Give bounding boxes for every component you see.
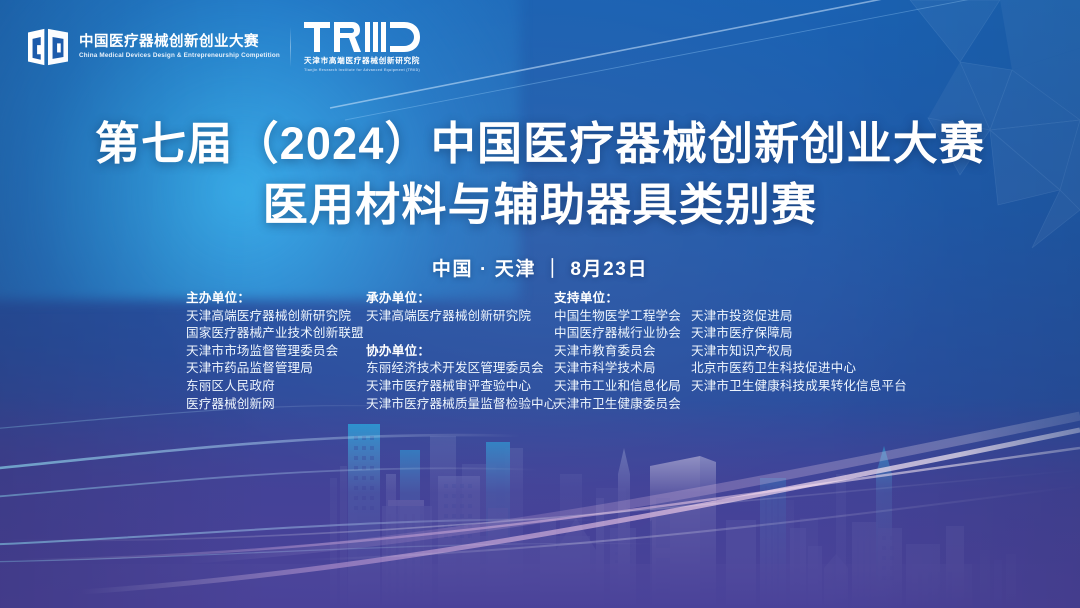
institute-logo-name-cn: 天津市高端医疗器械创新研究院: [304, 55, 420, 66]
organizer-columns: 主办单位： 天津高端医疗器械创新研究院 国家医疗器械产业技术创新联盟 天津市市场…: [186, 290, 901, 413]
event-poster: 中国医疗器械创新创业大赛 China Medical Devices Desig…: [0, 0, 1080, 608]
organizer-item: 天津高端医疗器械创新研究院: [186, 308, 366, 326]
organizer-item: 国家医疗器械产业技术创新联盟: [186, 325, 366, 343]
organizer-item: 医疗器械创新网: [186, 396, 366, 414]
organizer-item: 东丽经济技术开发区管理委员会: [366, 360, 554, 378]
title-block: 第七届（2024）中国医疗器械创新创业大赛 医用材料与辅助器具类别赛 中国 · …: [0, 116, 1080, 281]
organizer-item: 天津市医疗器械质量监督检验中心: [366, 396, 554, 414]
logo-divider: [290, 27, 291, 67]
organizer-column-undertaker: 承办单位： 天津高端医疗器械创新研究院 协办单位： 东丽经济技术开发区管理委员会…: [366, 290, 554, 413]
column-spacer: [691, 290, 901, 308]
triid-wordmark-icon: [304, 22, 420, 52]
organizer-item: 天津市教育委员会: [554, 343, 691, 361]
organizer-heading: 协办单位：: [366, 343, 554, 361]
organizer-item: 天津市药品监督管理局: [186, 360, 366, 378]
competition-logo-name-cn: 中国医疗器械创新创业大赛: [79, 34, 276, 50]
organizer-item: 天津市市场监督管理委员会: [186, 343, 366, 361]
organizer-item: 天津市卫生健康科技成果转化信息平台: [691, 378, 901, 396]
organizer-heading: 主办单位：: [186, 290, 366, 308]
organizer-item: 天津市卫生健康委员会: [554, 396, 691, 414]
logo-bar: 中国医疗器械创新创业大赛 China Medical Devices Desig…: [26, 22, 420, 72]
organizer-item: 天津市科学技术局: [554, 360, 691, 378]
organizer-item: 天津市知识产权局: [691, 343, 901, 361]
organizer-item: 天津高端医疗器械创新研究院: [366, 308, 554, 326]
column-spacer: [366, 325, 554, 343]
page-title-line1: 第七届（2024）中国医疗器械创新创业大赛: [0, 116, 1080, 172]
organizer-column-host: 主办单位： 天津高端医疗器械创新研究院 国家医疗器械产业技术创新联盟 天津市市场…: [186, 290, 366, 413]
competition-logo-name-en: China Medical Devices Design & Entrepren…: [79, 52, 280, 59]
organizer-heading: 承办单位：: [366, 290, 554, 308]
organizer-heading: 支持单位：: [554, 290, 691, 308]
competition-logo[interactable]: 中国医疗器械创新创业大赛 China Medical Devices Desig…: [26, 27, 276, 67]
location-date: 中国 · 天津 ｜ 8月23日: [0, 254, 1080, 281]
organizer-column-supporters-2: 天津市投资促进局 天津市医疗保障局 天津市知识产权局 北京市医药卫生科技促进中心…: [691, 290, 901, 396]
open-book-door-logo-icon: [26, 27, 70, 67]
organizer-item: 天津市投资促进局: [691, 308, 901, 326]
organizer-item: 天津市工业和信息化局: [554, 378, 691, 396]
organizer-column-supporters-1: 支持单位： 中国生物医学工程学会 中国医疗器械行业协会 天津市教育委员会 天津市…: [554, 290, 691, 413]
institute-logo-name-en: Tianjin Research Institute for Advanced …: [304, 68, 420, 72]
organizer-item: 中国生物医学工程学会: [554, 308, 691, 326]
page-title-line2: 医用材料与辅助器具类别赛: [0, 176, 1080, 235]
organizer-item: 中国医疗器械行业协会: [554, 325, 691, 343]
organizer-item: 北京市医药卫生科技促进中心: [691, 360, 901, 378]
organizer-item: 东丽区人民政府: [186, 378, 366, 396]
institute-logo[interactable]: 天津市高端医疗器械创新研究院 Tianjin Research Institut…: [304, 22, 420, 72]
organizer-item: 天津市医疗器械审评查验中心: [366, 378, 554, 396]
organizer-item: 天津市医疗保障局: [691, 325, 901, 343]
